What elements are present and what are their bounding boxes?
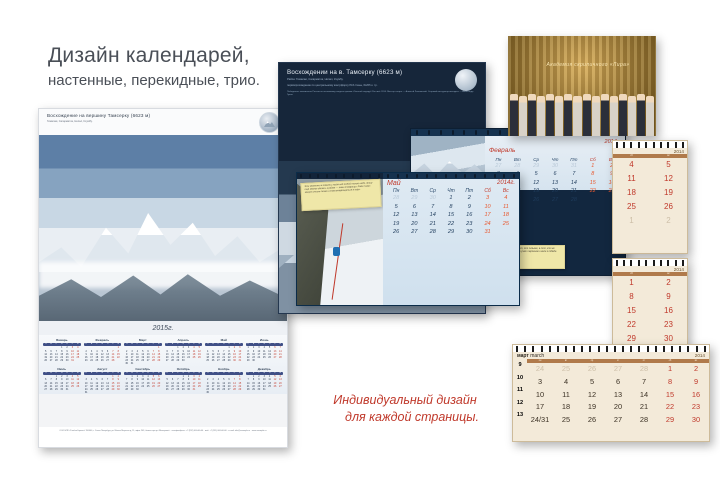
poster-title: Восхождение на вершину Тамсерку (6623 м) [47,113,279,118]
day-cell: 24/31 [527,414,553,427]
day-cell: 26 [579,363,605,376]
march-year: 2014 [695,353,705,358]
month-name: Апрель [165,338,203,342]
mountain-emblem-icon [455,69,477,91]
day-cell: 30 [205,391,210,394]
spiral-binding [613,259,687,266]
month-block: ЯнварьПВСЧПСВ000123456789101112131415161… [43,338,81,365]
handwritten-note: Индивидуальный дизайн для каждой страниц… [298,392,512,425]
day-cell: 6 [605,376,631,389]
month-block: НоябрьПВСЧПСВ000000123456789101112131415… [205,367,243,394]
day-cell: 27 [156,385,161,388]
month-block: АпрельПВСЧПСВ001234567891011121314151617… [165,338,203,365]
day-cell: 3 [527,376,553,389]
day-grid: 0000001234567891011121314151617181920212… [124,346,162,365]
wall-calendar-poster: Восхождение на вершину Тамсерку (6623 м)… [38,108,288,448]
week-number: 13 [513,409,527,422]
day-grid: 0001234567891011121314151617181920212223… [165,375,203,390]
day-cell: 28 [631,414,657,427]
day-cell: 28 [424,228,442,237]
day-cell: 2 [650,276,687,290]
dark-poster-title: Восхождении на в. Тамсерку (6623 м) [287,69,477,76]
day-cell: 17 [478,211,496,220]
day-cell: 25 [75,356,80,359]
may-year: 2014г. [497,180,515,186]
day-cell: 30 [460,228,478,237]
day-cell: 5 [387,203,405,212]
day-cell: 22 [657,401,683,414]
mountain-emblem-icon [259,112,280,133]
adjacent-day-cell: 27 [489,162,508,170]
day-cell: 8 [583,170,602,178]
day-cell: 27 [605,363,631,376]
day-cell: 9 [460,203,478,212]
may-day-grid: 2829301234567891011121314151617181920212… [387,194,515,237]
day-grid: 1234567891011121314151617181920212223242… [246,346,284,361]
month-block: МайПВСЧПСВ000012345678910111213141516171… [205,338,243,365]
day-cell: 16 [460,211,478,220]
day-cell: 5 [579,376,605,389]
adjacent-day-cell: 29 [405,194,423,203]
day-cell: 14 [564,179,583,187]
month-block: ИюльПВСЧПСВ00123456789101112131415161718… [43,367,81,394]
day-cell: 25 [497,220,515,229]
climbing-rope [331,223,343,299]
day-cell: 25 [197,385,202,388]
day-cell: 8 [657,376,683,389]
day-cell: 1 [583,162,602,170]
poster-subtitle: Гималаи, Сагарматха, Непал, Кхумбу. [47,120,279,123]
day-cell: 7 [564,170,583,178]
day-cell: 26 [579,414,605,427]
day-grid: 0000123456789101112131415161718192021222… [205,346,243,361]
day-cell: 24 [527,363,553,376]
day-grid: 0000001234567891011121314151617181920212… [205,375,243,394]
day-cell: 25 [553,414,579,427]
month-name: Март [124,338,162,342]
day-grid: 0001234567891011121314151617181920212223… [43,346,81,361]
day-cell: 28 [564,196,583,204]
day-cell: 31 [129,362,134,365]
spiral-binding [383,173,519,179]
day-cell: 20 [605,401,631,414]
orchestra-photo-calendar: Академия скрипичного «Лира» [508,36,656,136]
week-number: 10 [513,372,527,385]
day-cell: 9 [650,290,687,304]
poster-footer: ООО НПК «ГлобалСервис» 190000, г. Санкт-… [39,427,287,447]
day-cell: 1 [657,363,683,376]
may-sticky-note: Эти моменты в памяти, когда над тобой то… [300,179,381,211]
day-cell: 27 [405,228,423,237]
day-cell: 25 [553,363,579,376]
month-name: Май [205,338,243,342]
day-cell: 15 [583,179,602,187]
day-cell: 2 [650,214,687,228]
month-block: СентябрьПВСЧПСВ0123456789101112131415161… [124,367,162,394]
february-month-name: Февраль [489,147,515,154]
day-cell: 23 [683,401,709,414]
day-cell: 11 [497,203,515,212]
month-name: Февраль [84,338,122,342]
day-cell: 28 [278,356,283,359]
spiral-binding [613,141,687,148]
day-cell: 4 [497,194,515,203]
day-cell: 28 [110,359,115,362]
adjacent-day-cell: 28 [387,194,405,203]
day-cell: 31 [70,359,75,362]
day-grid: 0123456789101112131415161718192021222324… [124,375,162,390]
poster-year: 2015г. [153,325,174,332]
month-block: ИюньПВСЧПСВ12345678910111213141516171819… [246,338,284,365]
year-month-grid: ЯнварьПВСЧПСВ000123456789101112131415161… [39,335,287,394]
month-block: ФевральПВСЧПСВ00000012345678910111213141… [84,338,122,365]
day-cell: 29 [442,228,460,237]
climber-figure [333,247,340,256]
orchestra-group-photo [510,88,654,136]
day-cell: 13 [405,211,423,220]
day-cell: 20 [546,187,565,195]
trio-day-grid: 4511121819252612 [613,158,687,228]
day-cell: 21 [424,220,442,229]
dark-poster-header: Восхождении на в. Тамсерку (6623 м) Райо… [279,63,485,101]
day-cell: 18 [613,186,650,200]
day-cell: 6 [546,170,565,178]
day-cell: 9 [683,376,709,389]
day-cell: 15 [613,304,650,318]
day-cell: 22 [583,187,602,195]
day-cell: 21 [564,187,583,195]
day-cell: 19 [650,186,687,200]
day-cell: 15 [442,211,460,220]
may-month-name: Май [387,180,401,187]
day-grid: 0123456789101112131415161718192021222324… [246,375,284,390]
day-cell: 18 [497,211,515,220]
day-cell: 17 [527,401,553,414]
day-cell: 26 [650,200,687,214]
day-cell: 31 [64,388,69,391]
poster-photo [39,135,287,321]
day-cell: 12 [650,172,687,186]
day-cell: 2 [460,194,478,203]
day-cell: 1 [442,194,460,203]
march-day-grid: 2425262728123456789101112131415161718192… [527,363,709,426]
day-cell: 27 [605,414,631,427]
day-cell: 30 [135,388,140,391]
day-cell: 29 [657,414,683,427]
day-grid: 0012345678910111213141516171819202122232… [43,375,81,390]
spiral-binding [297,173,383,179]
month-name: Декабрь [246,367,284,371]
adjacent-day-cell: 31 [564,162,583,170]
may-grid-panel: Май 2014г. ПнВтСрЧтПтСбВс 28293012345678… [383,173,519,305]
month-name: Январь [43,338,81,342]
day-cell: 8 [442,203,460,212]
day-grid: 0000001234567891011121314151617181920212… [84,346,122,361]
day-cell: 30 [683,414,709,427]
trio-calendar-block-1: 2014 сбвс 4511121819252612 [612,140,688,254]
month-name: Июнь [246,338,284,342]
trio-calendar-block-2: 2014 сбвс 1289151622232930 [612,258,688,356]
day-cell: 10 [478,203,496,212]
day-cell: 19 [579,401,605,414]
month-block: ДекабрьПВСЧПСВ01234567891011121314151617… [246,367,284,394]
week-number: 12 [513,397,527,410]
month-block: АвгустПВСЧПСВ000001234567891011121314151… [84,367,122,394]
day-cell: 21 [631,401,657,414]
day-cell: 5 [650,158,687,172]
day-cell: 16 [650,304,687,318]
adjacent-day-cell: 30 [546,162,565,170]
dark-poster-subtitle-1: Район: Гималаи, Сагарматха, Непал, Кхумб… [287,78,477,82]
day-cell: 20 [405,220,423,229]
day-cell: 6 [405,203,423,212]
poster-year-line: 2015г. [39,321,287,335]
day-cell: 11 [613,172,650,186]
day-cell: 8 [613,290,650,304]
month-name: Июль [43,367,81,371]
month-block: МартПВСЧПСВ00000012345678910111213141516… [124,338,162,365]
day-cell: 16 [683,389,709,402]
day-cell: 22 [613,318,650,332]
day-grid: 0000012345678910111213141516171819202122… [84,375,122,394]
month-name: Ноябрь [205,367,243,371]
spiral-binding [513,345,709,352]
day-cell: 25 [613,200,650,214]
day-cell: 23 [650,318,687,332]
day-cell: 5 [527,170,546,178]
adjacent-day-cell: 28 [508,162,527,170]
adjacent-day-cell: 30 [424,194,442,203]
may-photo: Эти моменты в памяти, когда над тобой то… [297,173,383,305]
dark-poster-credits: Победитель чемпионата России по альпиниз… [287,91,477,97]
handwritten-line-1: Индивидуальный дизайн [298,392,512,409]
day-cell: 31 [237,359,242,362]
day-cell: 31 [191,388,196,391]
week-number: 9 [513,359,527,372]
day-cell: 26 [527,196,546,204]
day-cell: 12 [579,389,605,402]
adjacent-day-cell: 29 [527,162,546,170]
day-cell: 29 [156,359,161,362]
day-cell: 4 [553,376,579,389]
poster-header: Восхождение на вершину Тамсерку (6623 м)… [39,109,287,135]
day-cell: 19 [387,220,405,229]
day-cell: 31 [478,228,496,237]
day-cell: 30 [181,359,186,362]
day-cell: 15 [657,389,683,402]
day-cell: 12 [387,211,405,220]
day-cell: 27 [278,385,283,388]
day-cell: 13 [605,389,631,402]
day-cell: 26 [75,385,80,388]
day-cell: 29 [237,388,242,391]
month-name: Август [84,367,122,371]
day-cell: 30 [251,359,256,362]
day-cell: 18 [553,401,579,414]
march-trio-calendar: март march 2014 910111213 пнвтсрчтптсбвс… [512,344,710,442]
day-cell: 22 [442,220,460,229]
day-cell: 31 [84,391,89,394]
day-cell: 19 [527,187,546,195]
day-cell: 27 [546,196,565,204]
day-cell: 1 [613,276,650,290]
day-cell: 13 [546,179,565,187]
month-name: Сентябрь [124,367,162,371]
day-cell: 2 [683,363,709,376]
month-block: ОктябрьПВСЧПСВ00012345678910111213141516… [165,367,203,394]
day-grid: 0012345678910111213141516171819202122232… [165,346,203,361]
handwritten-line-2: для каждой страницы. [298,409,512,426]
day-cell: 24 [478,220,496,229]
day-cell: 12 [527,179,546,187]
day-cell: 7 [424,203,442,212]
day-cell: 26 [197,356,202,359]
day-cell: 1 [613,214,650,228]
footer-contact-text: ООО НПК «ГлобалСервис» 190000, г. Санкт-… [53,430,273,433]
day-cell: 30 [116,388,121,391]
day-cell: 31 [262,388,267,391]
day-cell: 10 [527,389,553,402]
day-cell: 4 [613,158,650,172]
day-cell: 22 [116,356,121,359]
trio-day-grid: 1289151622232930 [613,276,687,346]
march-week-numbers: 910111213 [513,359,527,426]
poster-composition: Дизайн календарей, настенные, перекидные… [0,0,720,480]
day-cell: 7 [631,376,657,389]
day-cell: 28 [631,363,657,376]
sticky-note-text: Эти моменты в памяти, когда над тобой то… [301,180,380,197]
week-number: 11 [513,384,527,397]
day-cell: 23 [460,220,478,229]
day-cell: 11 [553,389,579,402]
day-cell: 26 [387,228,405,237]
month-name: Октябрь [165,367,203,371]
may-desk-calendar: Эти моменты в памяти, когда над тобой то… [296,172,520,306]
day-cell: 14 [631,389,657,402]
day-cell: 14 [424,211,442,220]
dark-poster-subtitle-2: первопрохождение по центральному контрфо… [287,84,477,88]
orchestra-script-title: Академия скрипичного «Лира» [546,62,629,68]
day-cell: 3 [478,194,496,203]
